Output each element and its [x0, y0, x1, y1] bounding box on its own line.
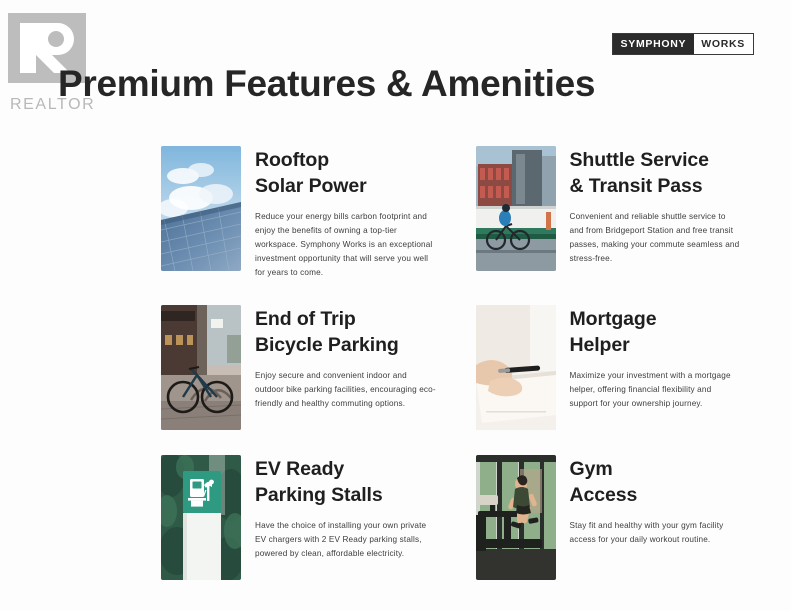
feature-card-shuttle-service: Shuttle Service & Transit Pass Convenien… — [476, 146, 762, 280]
feature-card-ev-ready-parking: EV EV Ready Parking Stalls Have the choi… — [161, 455, 447, 580]
rooftop-solar-panels-photo — [161, 146, 241, 271]
feature-body: Maximize your investment with a mortgage… — [570, 369, 742, 411]
svg-text:EV: EV — [195, 489, 207, 499]
feature-sheet-page: REALTOR SYMPHONY WORKS Premium Features … — [0, 0, 791, 611]
feature-body: Stay fit and healthy with your gym facil… — [570, 519, 742, 547]
feature-body: Have the choice of installing your own p… — [255, 519, 437, 561]
feature-title: Gym Access — [570, 457, 742, 509]
feature-card-rooftop-solar-power: Rooftop Solar Power Reduce your energy b… — [161, 146, 447, 280]
features-grid: Rooftop Solar Power Reduce your energy b… — [161, 146, 761, 580]
feature-text-block: EV Ready Parking Stalls Have the choice … — [255, 455, 437, 561]
ev-charging-station-sign-photo: EV — [161, 455, 241, 580]
symphony-works-logo: SYMPHONY WORKS — [613, 34, 753, 54]
feature-card-bicycle-parking: End of Trip Bicycle Parking Enjoy secure… — [161, 305, 447, 430]
feature-text-block: Shuttle Service & Transit Pass Convenien… — [570, 146, 742, 266]
treadmill-gym-photo — [476, 455, 556, 580]
street-bike-rack-photo — [161, 305, 241, 430]
feature-body: Convenient and reliable shuttle service … — [570, 210, 742, 266]
brand-name-symphony: SYMPHONY — [613, 34, 694, 54]
feature-body: Enjoy secure and convenient indoor and o… — [255, 369, 437, 411]
brand-name-works: WORKS — [693, 34, 753, 54]
feature-card-mortgage-helper: Mortgage Helper Maximize your investment… — [476, 305, 762, 430]
feature-body: Reduce your energy bills carbon footprin… — [255, 210, 437, 281]
feature-text-block: Gym Access Stay fit and healthy with you… — [570, 455, 742, 547]
city-bus-cyclist-photo — [476, 146, 556, 271]
feature-title: EV Ready Parking Stalls — [255, 457, 437, 509]
feature-text-block: Rooftop Solar Power Reduce your energy b… — [255, 146, 437, 280]
feature-title: Shuttle Service & Transit Pass — [570, 148, 742, 200]
feature-title: End of Trip Bicycle Parking — [255, 307, 437, 359]
page-title: Premium Features & Amenities — [58, 63, 595, 105]
feature-card-gym-access: Gym Access Stay fit and healthy with you… — [476, 455, 762, 580]
feature-text-block: Mortgage Helper Maximize your investment… — [570, 305, 742, 411]
feature-text-block: End of Trip Bicycle Parking Enjoy secure… — [255, 305, 437, 411]
feature-title: Mortgage Helper — [570, 307, 742, 359]
feature-title: Rooftop Solar Power — [255, 148, 437, 200]
hands-signing-document-photo — [476, 305, 556, 430]
